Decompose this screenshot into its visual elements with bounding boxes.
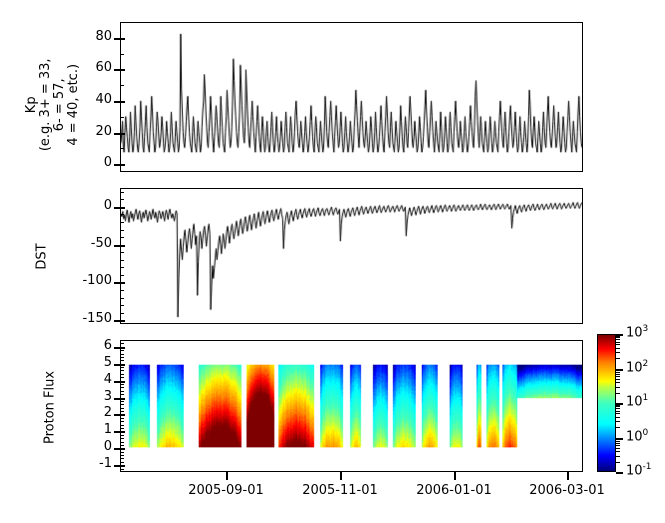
flux-minor-tick (120, 458, 124, 459)
flux-ytick-label: 2 (42, 405, 112, 420)
colorbar-minor-tick (616, 358, 620, 359)
colorbar-tick-exponent: 1 (643, 393, 649, 403)
colorbar-tick-base: 10 (626, 394, 643, 409)
dst-minor-tick (120, 199, 124, 200)
flux-minor-tick (120, 340, 124, 341)
x-major-tick (454, 472, 456, 480)
flux-major-tick (114, 414, 125, 416)
flux-minor-tick (120, 377, 124, 378)
colorbar-minor-tick (616, 413, 620, 414)
colorbar-minor-tick (616, 393, 620, 394)
flux-minor-tick (120, 425, 124, 426)
flux-minor-tick (120, 452, 124, 453)
x-major-tick (340, 472, 342, 480)
figure-root: Kp (e.g. 3+ = 33, 6- = 57, 4 = 40, etc.)… (0, 0, 665, 523)
kp-minor-tick (120, 117, 124, 118)
flux-minor-tick (120, 343, 124, 344)
colorbar-tick-exponent: 3 (643, 324, 649, 334)
flux-minor-tick (120, 357, 124, 358)
flux-major-tick (114, 398, 125, 400)
flux-major-tick (114, 347, 125, 349)
flux-minor-tick (120, 469, 124, 470)
colorbar-minor-tick (616, 405, 620, 406)
flux-minor-tick (120, 418, 124, 419)
panel-dst (120, 188, 583, 324)
colorbar-minor-tick (616, 445, 620, 446)
x-major-tick (567, 472, 569, 480)
flux-minor-tick (120, 438, 124, 439)
colorbar-tick-label: 100 (626, 428, 648, 444)
flux-minor-tick (120, 394, 124, 395)
colorbar-tick-base: 10 (626, 429, 643, 444)
colorbar-major-tick (616, 472, 623, 474)
colorbar-minor-tick (616, 417, 620, 418)
flux-ytick-label: -1 (42, 456, 112, 471)
flux-minor-tick (120, 455, 124, 456)
kp-ytick-label: 40 (42, 92, 112, 107)
dst-major-tick (114, 282, 125, 284)
colorbar-minor-tick (616, 421, 620, 422)
dst-timeseries-plot (121, 189, 582, 323)
dst-minor-tick (120, 237, 124, 238)
kp-major-tick (114, 164, 125, 166)
colorbar-tick-exponent: -1 (643, 462, 652, 472)
flux-major-tick (114, 465, 125, 467)
dst-minor-tick (120, 298, 124, 299)
flux-ytick-label: 4 (42, 372, 112, 387)
flux-ytick-label: 0 (42, 439, 112, 454)
colorbar-minor-tick (616, 462, 620, 463)
colorbar-tick-label: 10-1 (626, 462, 652, 478)
dst-minor-tick (120, 222, 124, 223)
flux-minor-tick (120, 428, 124, 429)
kp-axis-label-line1: Kp (25, 15, 39, 195)
dst-minor-tick (120, 192, 124, 193)
dst-ytick-label: -100 (42, 273, 112, 288)
colorbar-minor-tick (616, 339, 620, 340)
colorbar-minor-tick (616, 427, 620, 428)
colorbar-minor-tick (616, 439, 620, 440)
flux-minor-tick (120, 408, 124, 409)
colorbar-tick-exponent: 2 (643, 359, 649, 369)
dst-minor-tick (120, 252, 124, 253)
flux-minor-tick (120, 462, 124, 463)
x-tick-label: 2006-01-01 (404, 483, 504, 498)
dst-major-tick (114, 245, 125, 247)
colorbar-minor-tick (616, 336, 620, 337)
colorbar-minor-tick (616, 456, 620, 457)
dst-minor-tick (120, 313, 124, 314)
x-tick-label: 2005-09-01 (176, 483, 276, 498)
colorbar-minor-tick (616, 342, 620, 343)
flux-minor-tick (120, 374, 124, 375)
colorbar-minor-tick (616, 370, 620, 371)
flux-minor-tick (120, 404, 124, 405)
colorbar-minor-tick (616, 376, 620, 377)
kp-timeseries-plot (121, 23, 582, 171)
proton-flux-colorbar (597, 334, 616, 472)
flux-ytick-label: 3 (42, 389, 112, 404)
dst-major-tick (114, 207, 125, 209)
x-major-tick (226, 472, 228, 480)
dst-ytick-label: 0 (42, 198, 112, 213)
kp-ytick-label: 80 (42, 29, 112, 44)
flux-minor-tick (120, 384, 124, 385)
colorbar-tick-label: 102 (626, 359, 648, 375)
flux-major-tick (114, 381, 125, 383)
flux-ytick-label: 5 (42, 355, 112, 370)
kp-minor-tick (120, 54, 124, 55)
dst-minor-tick (120, 260, 124, 261)
kp-major-tick (114, 69, 125, 71)
dst-ytick-label: -50 (42, 236, 112, 251)
colorbar-gradient (598, 335, 615, 471)
flux-minor-tick (120, 350, 124, 351)
colorbar-tick-label: 103 (626, 324, 648, 340)
colorbar-minor-tick (616, 382, 620, 383)
colorbar-minor-tick (616, 372, 620, 373)
kp-ytick-label: 0 (42, 155, 112, 170)
panel-proton-flux (120, 340, 583, 472)
proton-flux-spectrogram (121, 341, 582, 471)
flux-minor-tick (120, 435, 124, 436)
colorbar-tick-base: 10 (626, 325, 643, 340)
dst-ytick-label: -150 (42, 311, 112, 326)
colorbar-tick-base: 10 (626, 463, 643, 478)
dst-minor-tick (120, 290, 124, 291)
colorbar-minor-tick (616, 379, 620, 380)
colorbar-tick-base: 10 (626, 360, 643, 375)
flux-minor-tick (120, 421, 124, 422)
colorbar-tick-exponent: 0 (643, 428, 649, 438)
dst-major-tick (114, 320, 125, 322)
kp-minor-tick (120, 148, 124, 149)
colorbar-minor-tick (616, 448, 620, 449)
colorbar-minor-tick (616, 411, 620, 412)
kp-minor-tick (120, 85, 124, 86)
colorbar-minor-tick (616, 387, 620, 388)
flux-ytick-label: 6 (42, 338, 112, 353)
flux-minor-tick (120, 387, 124, 388)
flux-ytick-label: 1 (42, 422, 112, 437)
colorbar-minor-tick (616, 344, 620, 345)
flux-minor-tick (120, 411, 124, 412)
colorbar-minor-tick (616, 348, 620, 349)
dst-minor-tick (120, 214, 124, 215)
flux-minor-tick (120, 391, 124, 392)
colorbar-tick-label: 101 (626, 393, 648, 409)
colorbar-minor-tick (616, 451, 620, 452)
x-tick-label: 2006-03-01 (517, 483, 617, 498)
dst-minor-tick (120, 275, 124, 276)
dst-minor-tick (120, 267, 124, 268)
flux-major-tick (114, 431, 125, 433)
dst-minor-tick (120, 230, 124, 231)
kp-major-tick (114, 38, 125, 40)
colorbar-minor-tick (616, 443, 620, 444)
flux-minor-tick (120, 360, 124, 361)
x-tick-label: 2005-11-01 (290, 483, 390, 498)
kp-ytick-label: 20 (42, 124, 112, 139)
flux-minor-tick (120, 442, 124, 443)
flux-minor-tick (120, 370, 124, 371)
flux-minor-tick (120, 354, 124, 355)
panel-kp (120, 22, 583, 172)
kp-major-tick (114, 101, 125, 103)
flux-minor-tick (120, 367, 124, 368)
kp-major-tick (114, 133, 125, 135)
flux-major-tick (114, 448, 125, 450)
colorbar-minor-tick (616, 374, 620, 375)
dst-minor-tick (120, 305, 124, 306)
colorbar-minor-tick (616, 441, 620, 442)
colorbar-minor-tick (616, 408, 620, 409)
kp-minor-tick (120, 22, 124, 23)
flux-major-tick (114, 364, 125, 366)
flux-minor-tick (120, 401, 124, 402)
kp-ytick-label: 60 (42, 60, 112, 75)
flux-minor-tick (120, 445, 124, 446)
colorbar-minor-tick (616, 352, 620, 353)
